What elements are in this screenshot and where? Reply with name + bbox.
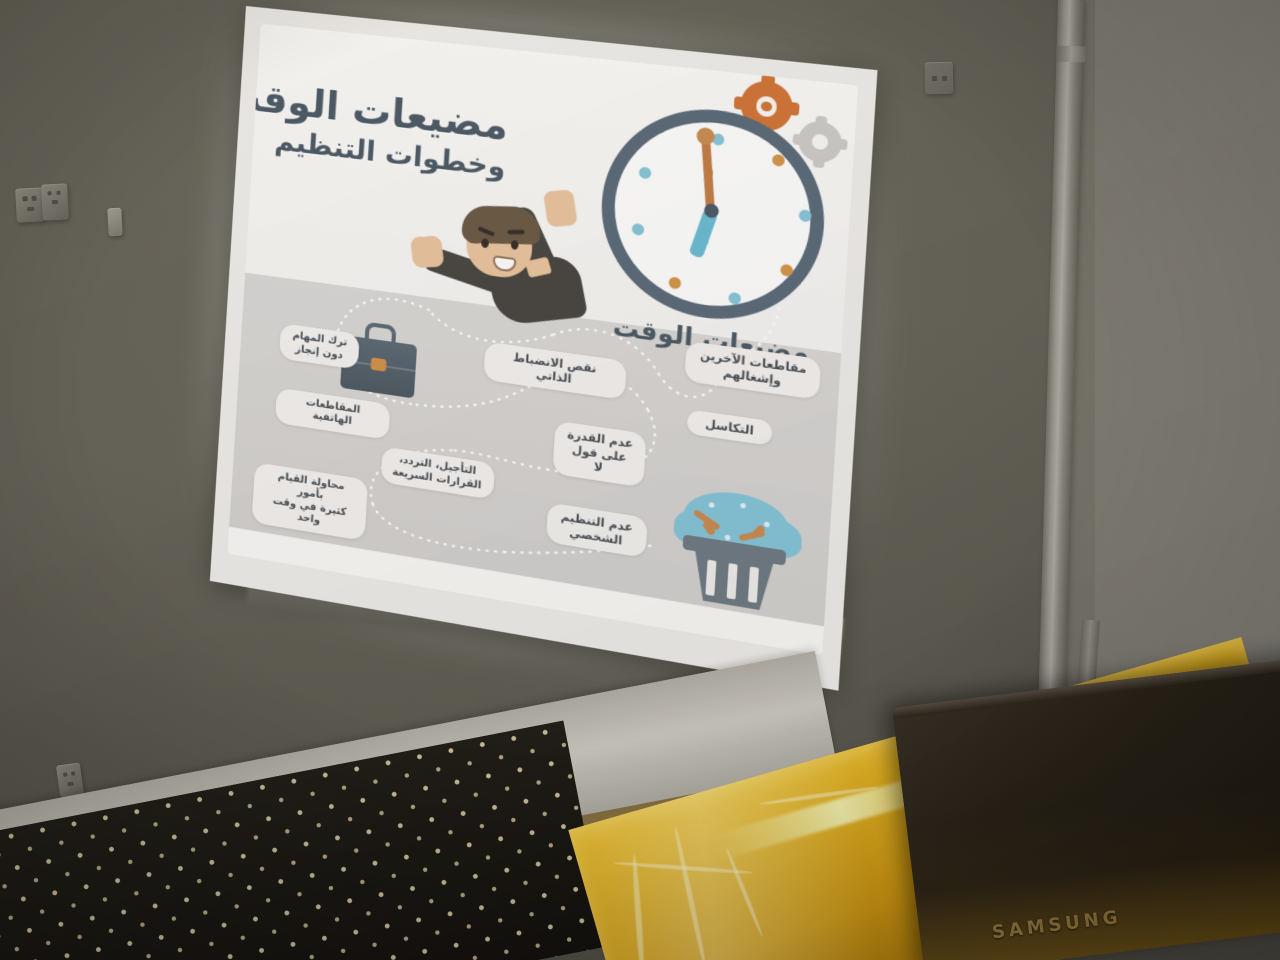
wall-far-right-panel xyxy=(1095,0,1280,760)
samsung-monitor[interactable]: SAMSUNG xyxy=(892,657,1280,960)
wall-socket-bottom-left xyxy=(56,762,84,797)
stressed-businessman-icon xyxy=(413,198,579,353)
room-scene: مضيعات الوقت وخطوات التنظيم xyxy=(0,0,1280,960)
overflowing-trash-icon xyxy=(677,486,794,615)
monitor-reflected-glow xyxy=(907,776,1280,960)
wall-socket-left-a xyxy=(15,187,45,222)
wall-socket-left-b xyxy=(41,183,69,220)
conduit-joint xyxy=(1056,46,1086,63)
projected-slide: مضيعات الوقت وخطوات التنظيم xyxy=(210,6,878,691)
slide-surface: مضيعات الوقت وخطوات التنظيم xyxy=(210,6,878,691)
wall-socket-upper-right xyxy=(925,62,954,94)
light-switch-left[interactable] xyxy=(107,208,122,237)
